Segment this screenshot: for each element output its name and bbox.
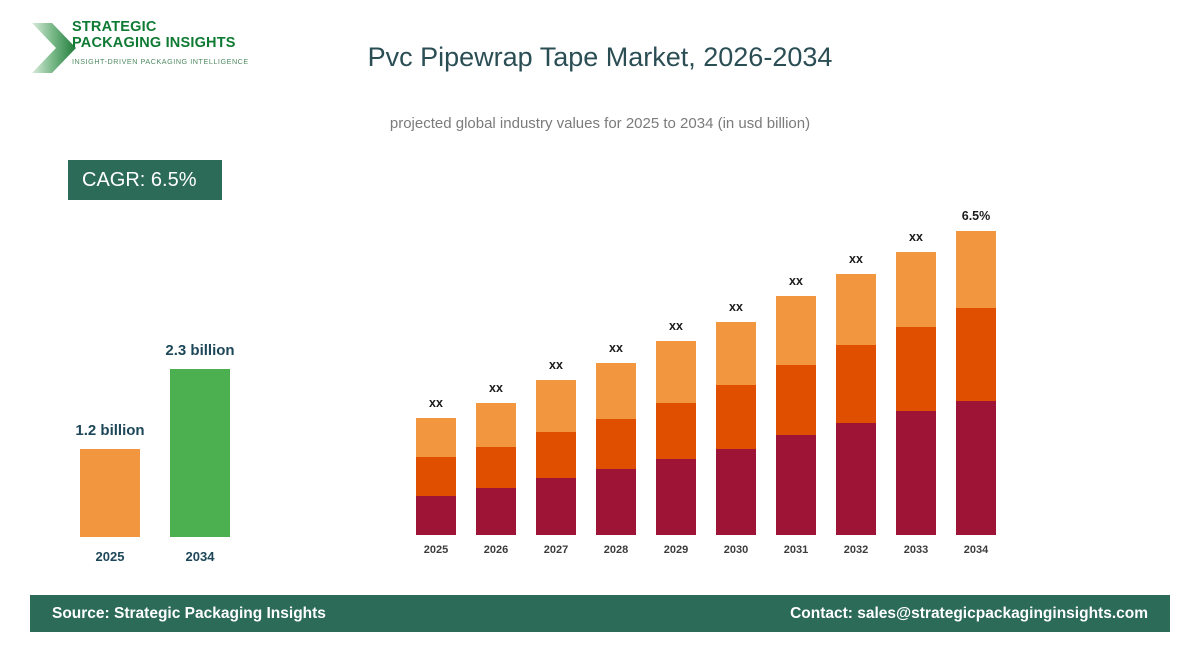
stacked-bar-top-label: xx [416,396,456,410]
stacked-bar-top-label: xx [656,319,696,333]
stacked-bar-segment [416,496,456,535]
chevron-right-icon [30,21,78,75]
stacked-bar [776,296,816,535]
endpoint-comparison-chart: 1.2 billion20252.3 billion2034 [50,300,270,570]
stacked-bar-segment [596,469,636,535]
stacked-bar-segment [476,447,516,488]
stacked-bar-year-label: 2027 [536,544,576,556]
stacked-bar-top-label: xx [836,252,876,266]
stacked-bar-year-label: 2030 [716,544,756,556]
stacked-bar-segment [416,457,456,496]
stacked-bar-segment [536,432,576,478]
stacked-bar-year-label: 2031 [776,544,816,556]
endpoint-bar-year-label: 2034 [160,549,240,564]
stacked-bar-segment [656,459,696,535]
stacked-bar [416,418,456,535]
stacked-bar-segment [416,418,456,457]
stacked-bar-segment [656,403,696,459]
endpoint-bar-value-label: 2.3 billion [158,342,242,359]
stacked-bar [536,380,576,535]
stacked-bar-segment [896,252,936,327]
cagr-badge: CAGR: 6.5% [68,160,222,200]
stacked-bar-year-label: 2033 [896,544,936,556]
stacked-bar-segment [596,419,636,469]
stacked-bar [656,341,696,535]
stacked-bar [896,252,936,535]
endpoint-bar-value-label: 1.2 billion [68,422,152,439]
stacked-bar [476,403,516,535]
stacked-bar-top-label: xx [716,300,756,314]
endpoint-bar [170,369,230,537]
stacked-bar-segment [776,435,816,535]
stacked-bar-top-label: xx [536,358,576,372]
page-subtitle: projected global industry values for 202… [200,115,1000,132]
stacked-bar-top-label: xx [596,341,636,355]
stacked-bar-segment [536,478,576,535]
stacked-bar-segment [956,401,996,535]
stacked-bar-top-label: xx [476,381,516,395]
stacked-bar-segment [536,380,576,432]
stacked-bar-segment [896,327,936,411]
stacked-bar-top-label: xx [896,230,936,244]
stacked-bar-segment [656,341,696,403]
brand-name-line-1: STRATEGIC [72,20,287,36]
stacked-bar-segment [836,274,876,345]
stacked-bar-segment [836,423,876,535]
stacked-bar-top-label: xx [776,274,816,288]
stacked-bar-year-label: 2025 [416,544,456,556]
footer-bar: Source: Strategic Packaging Insights Con… [30,595,1170,632]
stacked-bar-year-label: 2032 [836,544,876,556]
stacked-bar-top-label: 6.5% [956,209,996,223]
stacked-bar-year-label: 2029 [656,544,696,556]
footer-contact-text: Contact: sales@strategicpackaginginsight… [790,595,1148,632]
stacked-bar-segment [956,231,996,308]
endpoint-bar-year-label: 2025 [70,549,150,564]
stacked-bar [956,231,996,535]
stacked-bar-segment [716,322,756,385]
stacked-bar-year-label: 2034 [956,544,996,556]
segmented-forecast-chart: xx2025xx2026xx2027xx2028xx2029xx2030xx20… [400,200,1040,560]
endpoint-bar [80,449,140,537]
stacked-bar-segment [716,385,756,449]
stacked-bar-segment [476,488,516,535]
stacked-bar-year-label: 2028 [596,544,636,556]
stacked-bar-segment [956,308,996,401]
stacked-bar-segment [896,411,936,535]
page-title: Pvc Pipewrap Tape Market, 2026-2034 [200,42,1000,73]
stacked-bar [836,274,876,535]
stacked-bar-year-label: 2026 [476,544,516,556]
stacked-bar-segment [596,363,636,419]
stacked-bar-segment [716,449,756,535]
footer-source-text: Source: Strategic Packaging Insights [52,595,326,632]
stacked-bar-segment [776,365,816,435]
stacked-bar-segment [776,296,816,365]
stacked-bar [596,363,636,535]
stacked-bar [716,322,756,535]
stacked-bar-segment [836,345,876,423]
stacked-bar-segment [476,403,516,447]
cagr-badge-label: CAGR: 6.5% [82,169,196,192]
